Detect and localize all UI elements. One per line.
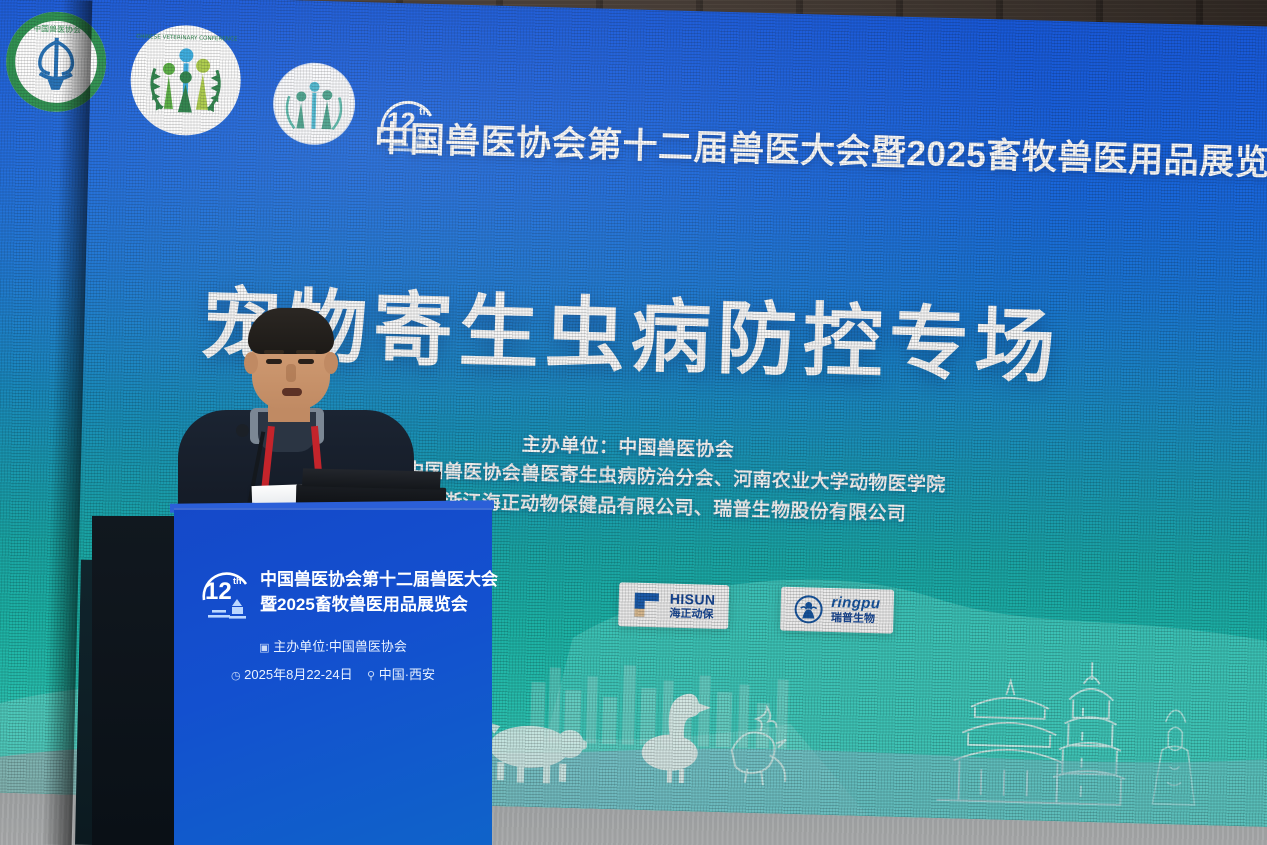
map-pin-icon: ⚲ [367, 670, 375, 682]
rooster-silhouette-icon [731, 706, 787, 785]
speaker-mouth [282, 388, 302, 396]
podium-emblem-number: 12 [205, 578, 232, 606]
microphone-head [236, 424, 249, 437]
podium-side-panel [92, 516, 178, 845]
podium-emblem-ordinal: th [233, 576, 242, 586]
sponsor-plate-ringpu: ringpu 瑞普生物 [780, 587, 894, 634]
podium-datetime-row: ◷ 2025年8月22-24日 ⚲ 中国·西安 [174, 664, 492, 683]
podium: 12 th 中国兽医协会第十二届兽医大会 暨2025畜牧兽医用品展览会 ▣ 主办… [92, 508, 492, 845]
podium-title-line1: 中国兽医协会第十二届兽医大会 [260, 568, 498, 593]
ringpu-name-en: ringpu [831, 595, 880, 613]
pig-silhouette-icon [485, 722, 588, 785]
city-skyline-silhouette [530, 663, 789, 749]
cvc-logo-svg: CHINESE VETERINARY CONFERENCE [129, 24, 242, 137]
podium-title-line2: 暨2025畜牧兽医用品展览会 [260, 593, 498, 618]
cvma-logo-svg: 中国兽医协会 [5, 10, 108, 113]
building-icon: ▣ [259, 642, 269, 654]
giant-wild-goose-pagoda-icon [1052, 661, 1128, 805]
conference-photo: 中国兽医协会 [0, 0, 1267, 845]
cvc-logo-primary: CHINESE VETERINARY CONFERENCE [129, 24, 242, 137]
xian-bell-tower-icon [936, 679, 1081, 804]
speaker-ear-left [244, 352, 258, 374]
podium-organizer-row: ▣ 主办单位:中国兽医协会 [174, 636, 492, 655]
speaker-hair [248, 308, 334, 354]
podium-date-text: 2025年8月22-24日 [244, 667, 352, 682]
goose-silhouette-icon [641, 693, 711, 784]
cvc-logo-secondary [272, 62, 356, 146]
speaker-ear-right [324, 352, 338, 374]
clock-icon: ◷ [231, 670, 241, 682]
podium-emblem: 12 th [200, 570, 256, 624]
conference-headline: 中国兽医协会第十二届兽医大会暨2025畜牧兽医用品展览会 [374, 110, 1267, 186]
laptop-lid [302, 468, 441, 489]
speaker-nose [286, 364, 296, 382]
podium-title: 中国兽医协会第十二届兽医大会 暨2025畜牧兽医用品展览会 [260, 568, 498, 617]
podium-front-panel: 12 th 中国兽医协会第十二届兽医大会 暨2025畜牧兽医用品展览会 ▣ 主办… [174, 508, 492, 845]
terracotta-warrior-icon [1152, 710, 1197, 805]
speaker-eye-right [298, 359, 314, 364]
podium-organizer-text: 主办单位:中国兽医协会 [273, 639, 407, 654]
sponsor-logo-group: HISUN 海正动保 ringpu 瑞普生物 [618, 582, 894, 633]
hisun-name-cn: 海正动保 [669, 607, 715, 621]
cvma-logo: 中国兽医协会 [5, 10, 108, 113]
cvc-logo-secondary-svg [272, 62, 356, 146]
speaker-eyebrow-left [264, 350, 284, 354]
hisun-logo-icon [631, 590, 662, 621]
hisun-name-en: HISUN [670, 592, 716, 609]
ringpu-name-cn: 瑞普生物 [831, 612, 880, 626]
speaker-eye-left [266, 359, 282, 364]
sponsor-plate-hisun: HISUN 海正动保 [618, 582, 729, 629]
speaker-eyebrow-right [296, 350, 316, 354]
ringpu-logo-icon [793, 594, 824, 625]
podium-location-text: 中国·西安 [379, 667, 435, 682]
